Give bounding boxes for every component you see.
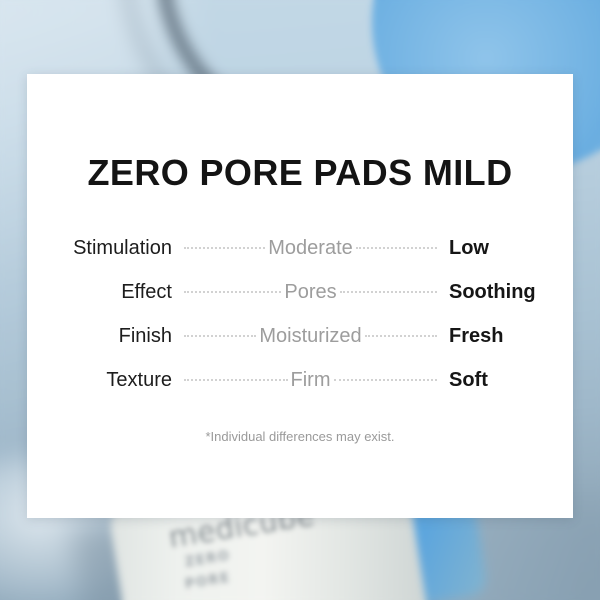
info-card: ZERO PORE PADS MILD Stimulation Moderate… xyxy=(27,74,573,518)
table-row: Texture Firm Soft xyxy=(27,358,573,402)
comparison-table: Stimulation Moderate Low Effect Pores So… xyxy=(27,226,573,402)
row-connector: Moderate xyxy=(172,237,449,260)
dotted-leader-right-icon xyxy=(340,291,437,294)
row-new-value-effect: Soothing xyxy=(449,281,573,304)
dotted-leader-right-icon xyxy=(356,247,437,250)
row-old-value-effect: Pores xyxy=(281,281,339,304)
dotted-leader-right-icon xyxy=(334,379,438,382)
page-title: ZERO PORE PADS MILD xyxy=(27,152,573,194)
table-row: Effect Pores Soothing xyxy=(27,270,573,314)
row-old-value-stimulation: Moderate xyxy=(265,237,356,260)
row-connector: Pores xyxy=(172,281,449,304)
product-comparison-image: medicube® ZERO PORE ZERO PORE PADS MILD … xyxy=(0,0,600,600)
table-row: Stimulation Moderate Low xyxy=(27,226,573,270)
table-row: Finish Moisturized Fresh xyxy=(27,314,573,358)
dotted-leader-left-icon xyxy=(184,379,288,382)
row-label-finish: Finish xyxy=(27,325,172,348)
row-old-value-finish: Moisturized xyxy=(256,325,364,348)
row-new-value-texture: Soft xyxy=(449,369,573,392)
row-connector: Moisturized xyxy=(172,325,449,348)
dotted-leader-right-icon xyxy=(365,335,437,338)
dotted-leader-left-icon xyxy=(184,335,256,338)
row-label-stimulation: Stimulation xyxy=(27,237,172,260)
row-new-value-stimulation: Low xyxy=(449,237,573,260)
row-new-value-finish: Fresh xyxy=(449,325,573,348)
row-connector: Firm xyxy=(172,369,449,392)
dotted-leader-left-icon xyxy=(184,247,265,250)
row-label-texture: Texture xyxy=(27,369,172,392)
row-old-value-texture: Firm xyxy=(288,369,334,392)
row-label-effect: Effect xyxy=(27,281,172,304)
footnote-disclaimer: *Individual differences may exist. xyxy=(27,429,573,444)
dotted-leader-left-icon xyxy=(184,291,281,294)
